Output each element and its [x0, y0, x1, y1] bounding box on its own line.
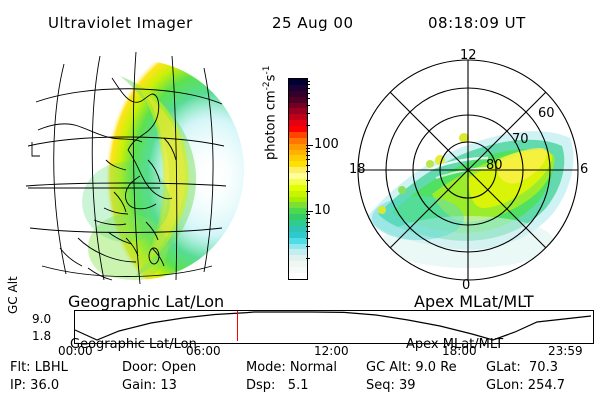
- mlt-label-0: 0: [462, 278, 470, 293]
- orbit-timeline-panel[interactable]: Geographic Lat/Lon Apex MLat/MLT GC Alt …: [0, 300, 600, 356]
- orbit-xtick-1: 06:00: [186, 344, 221, 358]
- orbit-xtick-0: 00:00: [58, 344, 93, 358]
- colorbar-swatch: [289, 273, 307, 279]
- colorbar-axis-label: photon cm-2s-1: [262, 66, 278, 160]
- polar-plot: [348, 42, 596, 294]
- orbit-xtick-4: 23:59: [548, 344, 583, 358]
- header-bar: Ultraviolet Imager 25 Aug 00 08:18:09 UT: [0, 6, 600, 32]
- status-flight-mode: Flt: LBHL: [10, 360, 68, 375]
- status-door: Door: Open: [122, 360, 196, 375]
- orbit-altitude-curve: [75, 311, 591, 341]
- orbit-left-caption: Geographic Lat/Lon: [68, 292, 224, 311]
- colorbar-gradient: [288, 78, 308, 280]
- status-ip: IP: 36.0: [10, 378, 59, 393]
- orbit-ytick-high: 9.0: [32, 312, 51, 326]
- aurora-oval-emission: [366, 131, 573, 268]
- colorbar-ticks: [306, 78, 313, 278]
- orbit-ytick-low: 1.8: [32, 329, 51, 343]
- colorbar-unit-exp1: -2: [262, 81, 272, 90]
- colorbar-label-100: 100: [314, 137, 339, 152]
- mlt-label-12: 12: [460, 48, 477, 63]
- status-glon: GLon: 254.7: [486, 378, 565, 393]
- lat-label-70: 70: [512, 132, 529, 147]
- aurora-emission: [74, 60, 246, 284]
- observation-date: 25 Aug 00: [272, 14, 354, 32]
- mlt-label-6: 6: [580, 162, 588, 177]
- status-gain: Gain: 13: [122, 378, 177, 393]
- instrument-title: Ultraviolet Imager: [48, 14, 193, 32]
- orbit-right-caption: Apex MLat/MLT: [414, 292, 534, 311]
- orbit-time-marker[interactable]: [237, 311, 238, 341]
- colorbar-unit-exp2: -1: [262, 66, 272, 75]
- orbit-xtick-2: 12:00: [314, 344, 349, 358]
- orbit-plot-area[interactable]: [74, 310, 594, 344]
- orbit-xtick-3: 18:00: [442, 344, 477, 358]
- status-dsp: Dsp: 5.1: [246, 378, 309, 393]
- colorbar-unit-mid: s: [263, 75, 278, 82]
- uvi-display: Ultraviolet Imager 25 Aug 00 08:18:09 UT: [0, 0, 600, 400]
- status-row-1: Flt: LBHL Door: Open Mode: Normal GC Alt…: [0, 360, 600, 377]
- lat-label-60: 60: [538, 106, 555, 121]
- status-row-2: IP: 36.0 Gain: 13 Dsp: 5.1 Seq: 39 GLon:…: [0, 378, 600, 395]
- colorbar-label-10: 10: [314, 203, 331, 218]
- geographic-globe-panel: Geographic Lat/Lon: [8, 42, 258, 294]
- colorbar-unit-main: photon cm: [263, 90, 278, 160]
- status-glat: GLat: 70.3: [486, 360, 558, 375]
- colorbar-panel: 100 10 photon cm-2s-1: [258, 42, 354, 294]
- globe-image: [8, 42, 258, 292]
- orbit-y-axis-label: GC Alt: [6, 276, 20, 314]
- apex-polar-panel: 12 6 0 18 60 70 80 Apex MLat/MLT: [348, 42, 596, 294]
- polar-grid: [358, 60, 578, 280]
- mlt-label-18: 18: [349, 162, 366, 177]
- status-block: Flt: LBHL Door: Open Mode: Normal GC Alt…: [0, 360, 600, 398]
- status-seq: Seq: 39: [366, 378, 416, 393]
- observation-time: 08:18:09 UT: [428, 14, 526, 32]
- lat-label-80: 80: [486, 158, 503, 173]
- status-gc-alt: GC Alt: 9.0 Re: [366, 360, 457, 375]
- status-mode: Mode: Normal: [246, 360, 337, 375]
